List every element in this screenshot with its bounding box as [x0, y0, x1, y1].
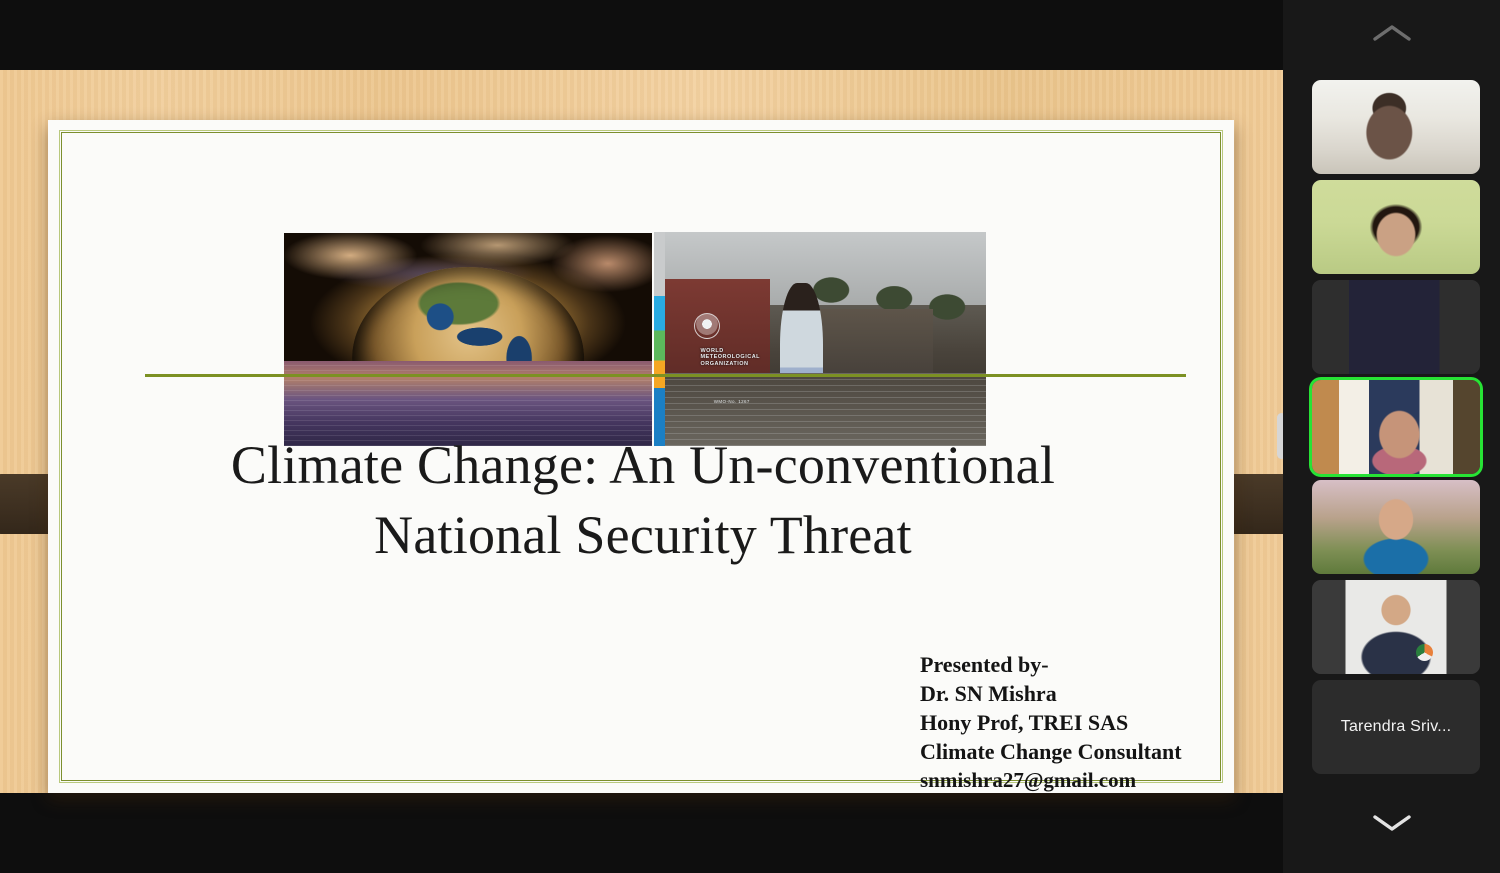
- video-call-window: WORLD METEOROLOGICAL ORGANIZATION WMO-No…: [0, 0, 1500, 873]
- slide-title-line-1: Climate Change: An Un-conventional: [138, 430, 1148, 500]
- participant-name-label: Tarendra Sriv...: [1312, 680, 1480, 774]
- slide-title: Climate Change: An Un-conventional Natio…: [138, 430, 1148, 570]
- shared-screen-stage[interactable]: WORLD METEOROLOGICAL ORGANIZATION WMO-No…: [0, 0, 1283, 873]
- presentation-canvas: WORLD METEOROLOGICAL ORGANIZATION WMO-No…: [0, 70, 1283, 793]
- wmo-seal-icon: [694, 313, 720, 339]
- presenter-affiliation: Hony Prof, TREI SAS: [920, 708, 1220, 737]
- cyclone-damage-image: WORLD METEOROLOGICAL ORGANIZATION WMO-No…: [654, 232, 986, 446]
- slide-title-line-2: National Security Threat: [138, 500, 1148, 570]
- participant-tile[interactable]: [1312, 480, 1480, 574]
- divider-rule: [145, 374, 1186, 377]
- participant-filmstrip: Tarendra Sriv...: [1283, 0, 1500, 873]
- participant-tile[interactable]: [1312, 80, 1480, 174]
- participant-tile[interactable]: [1312, 280, 1480, 374]
- participant-tile-active-speaker[interactable]: [1312, 380, 1480, 474]
- lapel-badge-icon: [1416, 644, 1433, 661]
- presenter-email: snmishra27@gmail.com: [920, 766, 1220, 795]
- wmo-color-stripe: [654, 232, 665, 446]
- presenter-role: Climate Change Consultant: [920, 737, 1220, 766]
- participant-tile[interactable]: [1312, 180, 1480, 274]
- wmo-line-3: ORGANIZATION: [700, 361, 833, 368]
- chevron-down-icon: [1371, 812, 1413, 834]
- participant-tile[interactable]: [1312, 580, 1480, 674]
- scroll-up-button[interactable]: [1283, 0, 1500, 66]
- presenter-name: Dr. SN Mishra: [920, 679, 1220, 708]
- participant-tile-camera-off[interactable]: Tarendra Sriv...: [1312, 680, 1480, 774]
- chevron-up-icon: [1371, 22, 1413, 44]
- presented-by-label: Presented by-: [920, 650, 1220, 679]
- wmo-logo-text: WORLD METEOROLOGICAL ORGANIZATION: [700, 348, 833, 368]
- slide-page: WORLD METEOROLOGICAL ORGANIZATION WMO-No…: [48, 120, 1234, 793]
- presenter-block: Presented by- Dr. SN Mishra Hony Prof, T…: [920, 650, 1220, 795]
- wmo-reference-number: WMO-No. 1267: [714, 399, 750, 404]
- scroll-down-button[interactable]: [1283, 790, 1500, 856]
- participant-tiles: Tarendra Sriv...: [1283, 66, 1500, 790]
- globe-sinking-image: [284, 233, 652, 446]
